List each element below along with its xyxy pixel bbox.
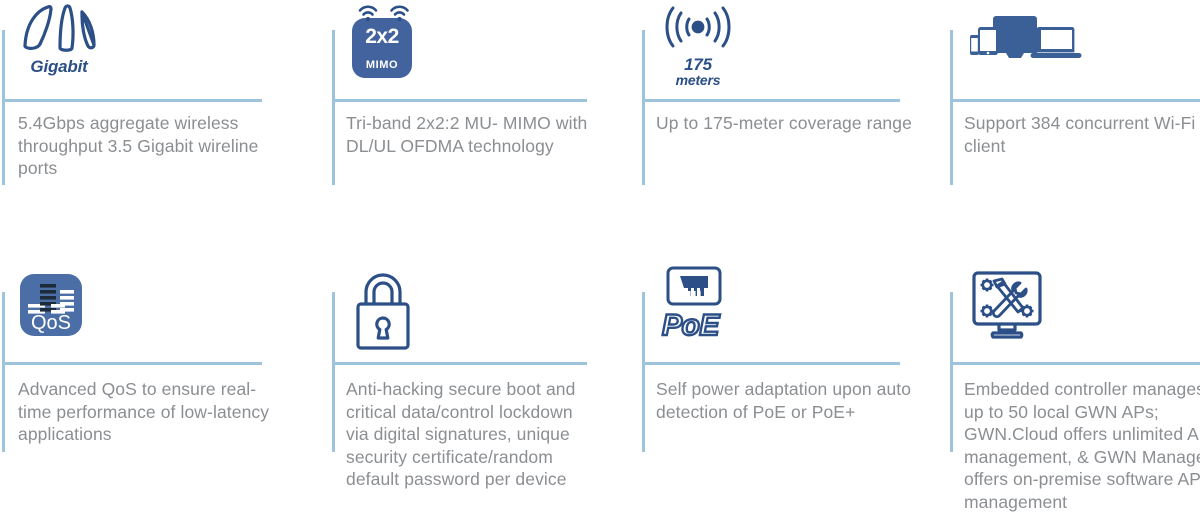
icon-area: Gigabit — [20, 0, 98, 95]
icon-area — [352, 270, 414, 365]
poe-ethernet-jack-icon — [666, 266, 722, 311]
wifi-signal-pair-icon — [357, 2, 411, 20]
horizontal-rule — [2, 99, 262, 102]
wireless-range-icon — [662, 6, 734, 55]
feature-grid: Gigabit 5.4Gbps aggregate wireless throu… — [0, 0, 1200, 524]
poe-icon-label: PoE — [662, 309, 719, 343]
vertical-rule — [950, 30, 953, 185]
feature-description: 5.4Gbps aggregate wireless throughput 3.… — [18, 112, 268, 180]
horizontal-rule — [642, 362, 900, 365]
vertical-rule — [332, 292, 335, 452]
vertical-rule — [2, 30, 5, 185]
icon-area — [970, 14, 1090, 109]
multi-device-icon — [970, 57, 1090, 74]
mimo-badge-secondary-label: MIMO — [352, 59, 412, 71]
feature-description: Embedded controller manages up to 50 loc… — [964, 378, 1200, 513]
vertical-rule — [332, 30, 335, 185]
range-icon-secondary-label: meters — [676, 72, 721, 88]
icon-area: PoE — [662, 266, 722, 361]
padlock-icon — [352, 339, 414, 356]
feature-description: Up to 175-meter coverage range — [656, 112, 914, 135]
mimo-badge-icon: 2x2 MIMO — [352, 18, 412, 78]
feature-description: Support 384 concurrent Wi-Fi client — [964, 112, 1200, 157]
gigabit-icon-label: Gigabit — [30, 57, 87, 77]
vertical-rule — [950, 292, 953, 452]
icon-area — [970, 270, 1044, 365]
feature-description: Advanced QoS to ensure real-time perform… — [18, 378, 276, 446]
mimo-badge-primary-label: 2x2 — [352, 25, 412, 49]
feature-description: Self power adaptation upon auto detectio… — [656, 378, 914, 423]
qos-badge-label: QoS — [20, 312, 82, 335]
vertical-rule — [2, 292, 5, 452]
controller-tools-monitor-icon — [970, 327, 1044, 344]
gigabit-arc-icon — [20, 0, 98, 57]
icon-area: 2x2 MIMO — [352, 18, 412, 113]
vertical-rule — [642, 30, 645, 185]
icon-area: QoS — [20, 274, 82, 369]
feature-description: Anti-hacking secure boot and critical da… — [346, 378, 596, 491]
feature-description: Tri-band 2x2:2 MU- MIMO with DL/UL OFDMA… — [346, 112, 594, 157]
qos-equalizer-badge-icon: QoS — [20, 274, 82, 336]
vertical-rule — [642, 292, 645, 452]
icon-area: 175 meters — [662, 6, 734, 101]
